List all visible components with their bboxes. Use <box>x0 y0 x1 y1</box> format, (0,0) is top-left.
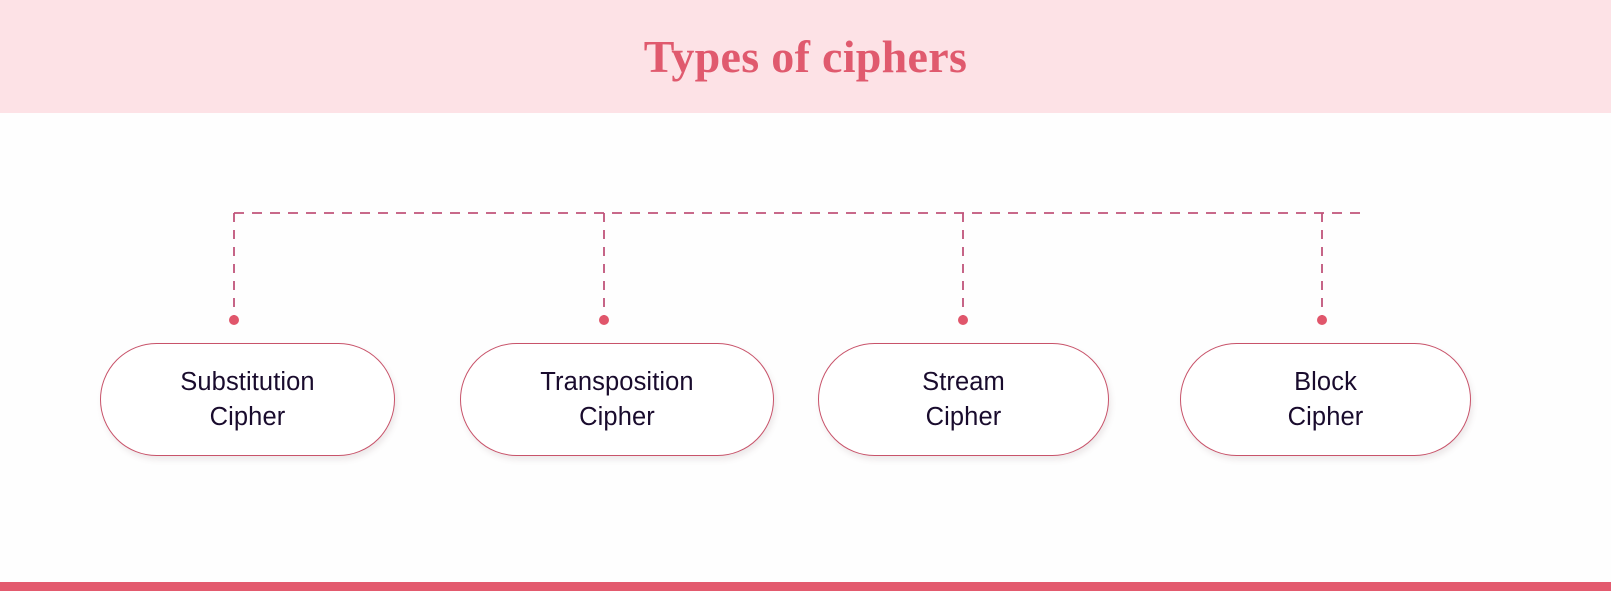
header-band: Types of ciphers <box>0 0 1611 113</box>
node-label: Substitution Cipher <box>180 365 314 435</box>
connector-dot-2 <box>599 315 609 325</box>
node-block-cipher[interactable]: Block Cipher <box>1180 343 1471 456</box>
footer-accent-bar <box>0 582 1611 591</box>
connector-dot-4 <box>1317 315 1327 325</box>
slide-canvas: Types of ciphers Substitution Cipher Tra… <box>0 0 1611 591</box>
page-title: Types of ciphers <box>0 0 1611 113</box>
node-label: Block Cipher <box>1288 365 1364 435</box>
node-substitution-cipher[interactable]: Substitution Cipher <box>100 343 395 456</box>
connector-dot-3 <box>958 315 968 325</box>
node-stream-cipher[interactable]: Stream Cipher <box>818 343 1109 456</box>
node-label: Stream Cipher <box>922 365 1005 435</box>
node-label: Transposition Cipher <box>540 365 693 435</box>
connector-dot-1 <box>229 315 239 325</box>
cipher-types-diagram: Substitution Cipher Transposition Cipher… <box>0 113 1611 582</box>
node-transposition-cipher[interactable]: Transposition Cipher <box>460 343 774 456</box>
